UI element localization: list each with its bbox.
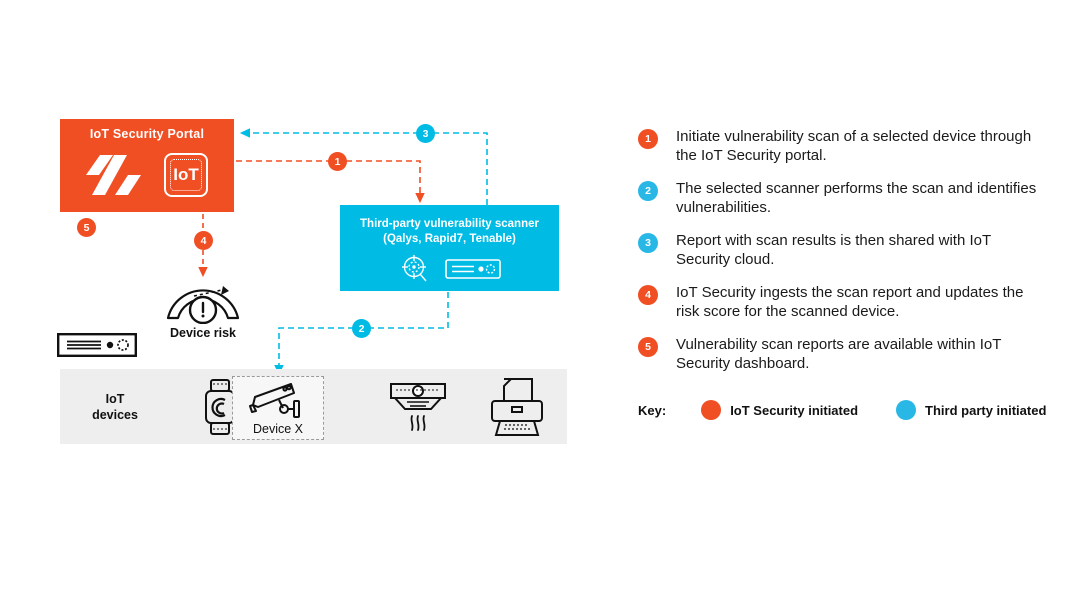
- flow-arrow-1: [236, 161, 420, 198]
- steps-list: 1 Initiate vulnerability scan of a selec…: [638, 127, 1038, 387]
- scanner-server-icon: [445, 257, 501, 281]
- palo-alto-networks-logo: [86, 153, 148, 197]
- step-item-1: 1 Initiate vulnerability scan of a selec…: [638, 127, 1038, 165]
- diagram-badge-3: 3: [416, 124, 435, 143]
- step-text-5: Vulnerability scan reports are available…: [676, 335, 1038, 373]
- selected-device-x[interactable]: Device X: [232, 376, 324, 440]
- legend: Key: IoT Security initiated Third party …: [638, 400, 1046, 420]
- iot-badge-label: IoT: [173, 165, 199, 185]
- legend-title: Key:: [638, 403, 666, 418]
- step-item-3: 3 Report with scan results is then share…: [638, 231, 1038, 269]
- legend-dot-orange: [701, 400, 721, 420]
- device-risk-indicator: Device risk: [160, 278, 246, 340]
- device-item-smoke-detector[interactable]: [368, 369, 467, 444]
- iot-badge: IoT: [164, 153, 208, 197]
- legend-item-iot-security: IoT Security initiated: [701, 400, 858, 420]
- step-text-2: The selected scanner performs the scan a…: [676, 179, 1038, 217]
- step-number-3: 3: [638, 233, 658, 253]
- iot-devices-label-line2: devices: [60, 407, 170, 423]
- scanner-title-line2: (Qalys, Rapid7, Tenable): [383, 232, 516, 247]
- portal-title: IoT Security Portal: [90, 127, 204, 141]
- diagram-badge-2: 2: [352, 319, 371, 338]
- diagram-badge-1: 1: [328, 152, 347, 171]
- scanner-icons: [399, 247, 501, 291]
- device-item-printer[interactable]: [467, 369, 566, 444]
- legend-dot-cyan: [896, 400, 916, 420]
- step-number-4: 4: [638, 285, 658, 305]
- scan-target-icon: [399, 254, 433, 284]
- iot-security-appliance-icon: [57, 333, 137, 357]
- device-x-label: Device X: [253, 422, 303, 436]
- printer-icon: [488, 377, 546, 437]
- step-number-2: 2: [638, 181, 658, 201]
- step-item-5: 5 Vulnerability scan reports are availab…: [638, 335, 1038, 373]
- diagram-badge-5: 5: [77, 218, 96, 237]
- smoke-detector-icon: [387, 378, 449, 436]
- step-text-3: Report with scan results is then shared …: [676, 231, 1038, 269]
- legend-label-third-party: Third party initiated: [925, 403, 1046, 418]
- security-camera-icon: [247, 381, 309, 421]
- scanner-title-line1: Third-party vulnerability scanner: [360, 217, 539, 232]
- legend-item-third-party: Third party initiated: [896, 400, 1046, 420]
- diagram-badge-4: 4: [194, 231, 213, 250]
- flow-arrow-3: [245, 133, 487, 205]
- step-item-4: 4 IoT Security ingests the scan report a…: [638, 283, 1038, 321]
- step-item-2: 2 The selected scanner performs the scan…: [638, 179, 1038, 217]
- step-number-1: 1: [638, 129, 658, 149]
- step-text-4: IoT Security ingests the scan report and…: [676, 283, 1038, 321]
- iot-devices-label: IoT devices: [60, 391, 170, 423]
- iot-security-portal-box[interactable]: IoT Security Portal IoT: [60, 119, 234, 212]
- iot-devices-label-line1: IoT: [60, 391, 170, 407]
- legend-label-iot-security: IoT Security initiated: [730, 403, 858, 418]
- diagram-canvas: IoT Security Portal IoT Third-party vuln…: [0, 0, 1067, 593]
- step-number-5: 5: [638, 337, 658, 357]
- step-text-1: Initiate vulnerability scan of a selecte…: [676, 127, 1038, 165]
- risk-gauge-icon: [164, 278, 242, 324]
- device-risk-label: Device risk: [170, 326, 236, 340]
- third-party-scanner-box[interactable]: Third-party vulnerability scanner (Qalys…: [340, 205, 559, 291]
- portal-body: IoT: [60, 141, 234, 212]
